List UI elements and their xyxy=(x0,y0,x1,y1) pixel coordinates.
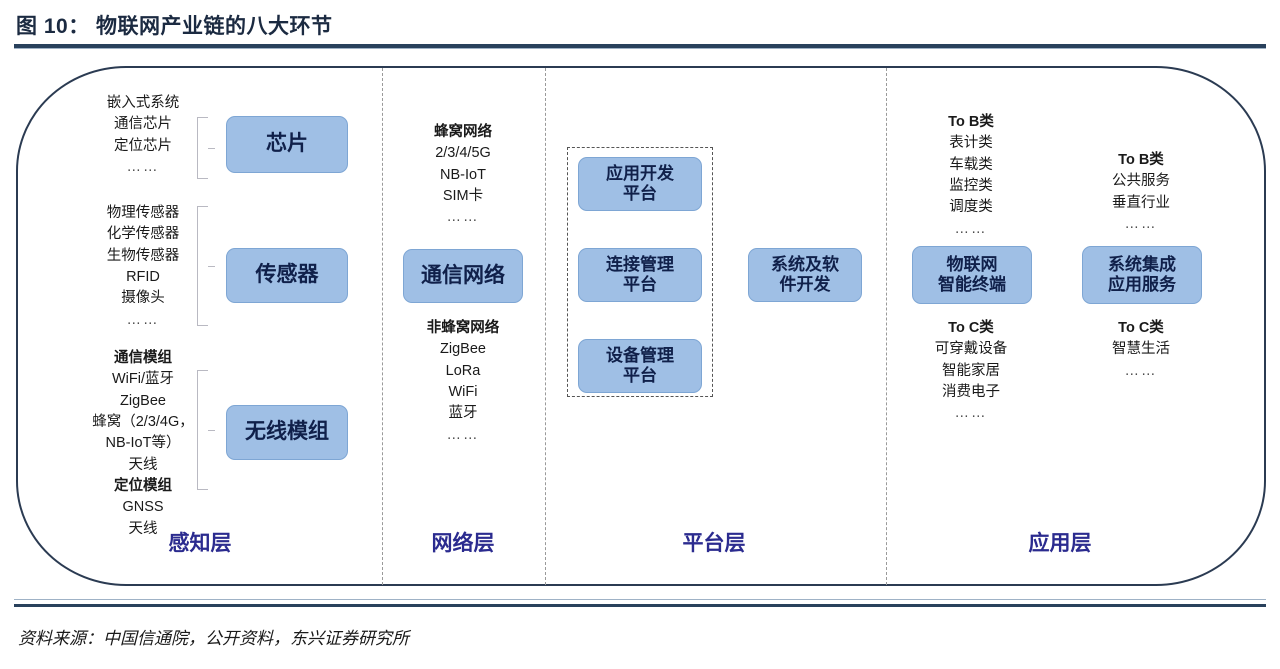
chip-component-list: 嵌入式系统 通信芯片 定位芯片 …… xyxy=(107,93,180,178)
terminal-tob-list: To B类 表计类 车载类 监控类 调度类 …… xyxy=(948,112,994,240)
chip-list-ellipsis: …… xyxy=(107,157,180,178)
sensor-list-line: 化学传感器 xyxy=(107,224,180,245)
noncellular-heading: 非蜂窝网络 xyxy=(427,318,500,339)
module-list-line: 天线 xyxy=(92,455,194,476)
layer-label-perception: 感知层 xyxy=(169,527,232,557)
cellular-list-line: SIM卡 xyxy=(434,186,492,207)
integration-tob-line: 公共服务 xyxy=(1112,171,1170,192)
terminal-tob-line: 调度类 xyxy=(948,197,994,218)
box-chip[interactable]: 芯片 xyxy=(226,116,348,173)
terminal-tob-ellipsis: …… xyxy=(948,219,994,240)
sensor-list-line: 摄像头 xyxy=(107,288,180,309)
chip-list-line: 通信芯片 xyxy=(107,114,180,135)
noncellular-list-line: WiFi xyxy=(427,382,500,403)
integration-tob-line: 垂直行业 xyxy=(1112,193,1170,214)
noncellular-list-line: 蓝牙 xyxy=(427,403,500,424)
integration-tob-heading: To B类 xyxy=(1112,150,1170,171)
noncellular-network-list: 非蜂窝网络 ZigBee LoRa WiFi 蓝牙 …… xyxy=(427,318,500,446)
cellular-network-list: 蜂窝网络 2/3/4/5G NB-IoT SIM卡 …… xyxy=(434,122,492,229)
box-system-software-development[interactable]: 系统及软 件开发 xyxy=(748,248,862,302)
layer-label-application: 应用层 xyxy=(1029,527,1092,557)
noncellular-ellipsis: …… xyxy=(427,425,500,446)
box-system-integration-service[interactable]: 系统集成 应用服务 xyxy=(1082,246,1202,304)
box-wireless-module[interactable]: 无线模组 xyxy=(226,405,348,460)
terminal-tob-heading: To B类 xyxy=(948,112,994,133)
sensor-list-line: 物理传感器 xyxy=(107,203,180,224)
box-device-management-platform[interactable]: 设备管理 平台 xyxy=(578,339,702,393)
box-sensor[interactable]: 传感器 xyxy=(226,248,348,303)
module-list-line: NB-IoT等） xyxy=(92,433,194,454)
title-rule-secondary xyxy=(14,48,1266,49)
integration-toc-ellipsis: …… xyxy=(1112,361,1170,382)
module-list-line: 蜂窝（2/3/4G， xyxy=(92,412,194,433)
sensor-list-line: 生物传感器 xyxy=(107,246,180,267)
module-component-list: 通信模组 WiFi/蓝牙 ZigBee 蜂窝（2/3/4G， NB-IoT等） … xyxy=(92,348,194,540)
cellular-heading: 蜂窝网络 xyxy=(434,122,492,143)
sensor-list-ellipsis: …… xyxy=(107,310,180,331)
layer-divider-1 xyxy=(382,68,383,585)
layer-divider-3 xyxy=(886,68,887,585)
integration-tob-ellipsis: …… xyxy=(1112,214,1170,235)
chip-list-line: 嵌入式系统 xyxy=(107,93,180,114)
integration-tob-list: To B类 公共服务 垂直行业 …… xyxy=(1112,150,1170,235)
sensor-list-line: RFID xyxy=(107,267,180,288)
integration-toc-list: To C类 智慧生活 …… xyxy=(1112,318,1170,382)
module-list-line: GNSS xyxy=(92,497,194,518)
layer-label-network: 网络层 xyxy=(432,527,495,557)
cellular-ellipsis: …… xyxy=(434,207,492,228)
layer-divider-2 xyxy=(545,68,546,585)
sensor-component-list: 物理传感器 化学传感器 生物传感器 RFID 摄像头 …… xyxy=(107,203,180,331)
module-bracket xyxy=(197,370,208,490)
module-list-line: ZigBee xyxy=(92,391,194,412)
terminal-toc-ellipsis: …… xyxy=(935,403,1008,424)
sensor-bracket xyxy=(197,206,208,326)
noncellular-list-line: ZigBee xyxy=(427,339,500,360)
footer-rule xyxy=(14,604,1266,607)
terminal-tob-line: 车载类 xyxy=(948,155,994,176)
terminal-toc-heading: To C类 xyxy=(935,318,1008,339)
chip-bracket xyxy=(197,117,208,179)
module-heading-comm: 通信模组 xyxy=(92,348,194,369)
footer-rule-secondary xyxy=(14,599,1266,600)
box-app-development-platform[interactable]: 应用开发 平台 xyxy=(578,157,702,211)
box-communication-network[interactable]: 通信网络 xyxy=(403,249,523,303)
terminal-toc-list: To C类 可穿戴设备 智能家居 消费电子 …… xyxy=(935,318,1008,425)
box-connection-management-platform[interactable]: 连接管理 平台 xyxy=(578,248,702,302)
layer-label-platform: 平台层 xyxy=(683,527,746,557)
cellular-list-line: 2/3/4/5G xyxy=(434,143,492,164)
module-heading-position: 定位模组 xyxy=(92,476,194,497)
noncellular-list-line: LoRa xyxy=(427,361,500,382)
cellular-list-line: NB-IoT xyxy=(434,165,492,186)
terminal-toc-line: 消费电子 xyxy=(935,382,1008,403)
integration-toc-heading: To C类 xyxy=(1112,318,1170,339)
module-list-line: WiFi/蓝牙 xyxy=(92,369,194,390)
terminal-tob-line: 监控类 xyxy=(948,176,994,197)
chip-list-line: 定位芯片 xyxy=(107,136,180,157)
box-iot-smart-terminal[interactable]: 物联网 智能终端 xyxy=(912,246,1032,304)
source-note: 资料来源：中国信通院，公开资料，东兴证券研究所 xyxy=(18,624,409,649)
terminal-toc-line: 可穿戴设备 xyxy=(935,339,1008,360)
terminal-toc-line: 智能家居 xyxy=(935,361,1008,382)
terminal-tob-line: 表计类 xyxy=(948,133,994,154)
integration-toc-line: 智慧生活 xyxy=(1112,339,1170,360)
figure-title: 图 10： 物联网产业链的八大环节 xyxy=(16,10,333,40)
